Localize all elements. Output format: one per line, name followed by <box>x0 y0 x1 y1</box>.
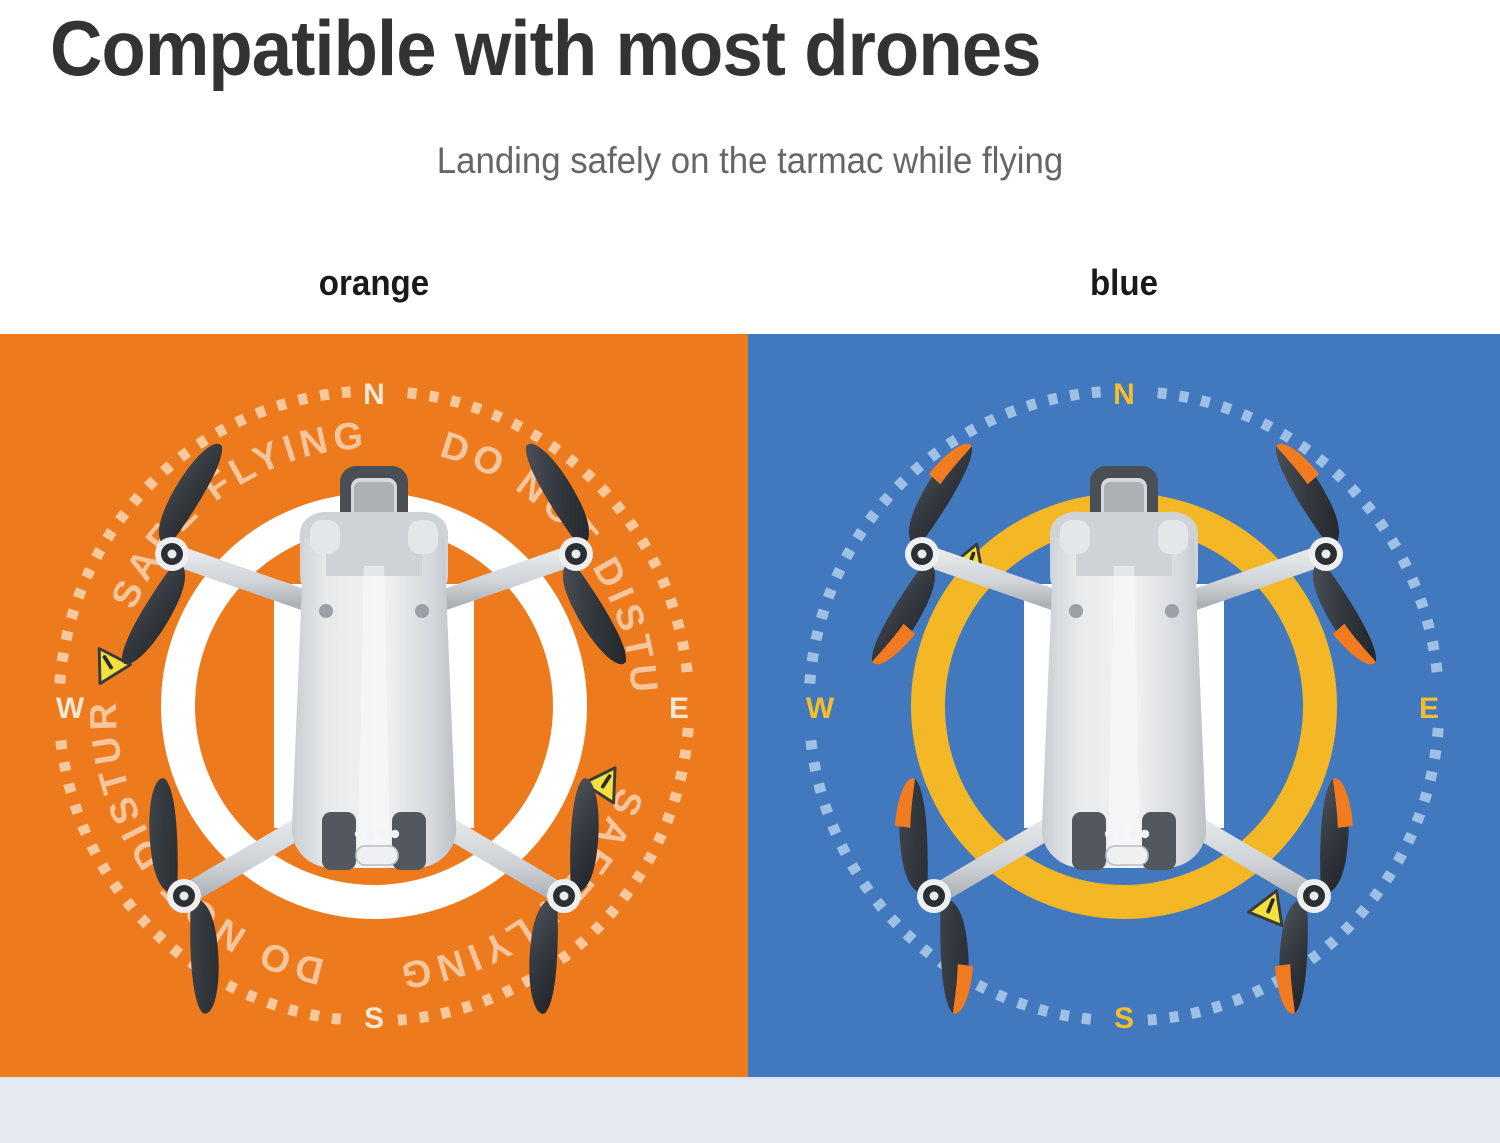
warning-triangle-icon-2 <box>1249 884 1294 925</box>
helipad-letter-h <box>1024 584 1224 828</box>
header-section: Compatible with most drones Landing safe… <box>0 0 1500 330</box>
landing-pad-orange: N E S W SAFE FLYING DO NOT DISTURB SAFE … <box>24 356 724 1056</box>
compass-letter-e: E <box>1419 692 1439 725</box>
compass-letter-s: S <box>364 1002 384 1035</box>
compass-letter-w: W <box>56 692 85 725</box>
landing-pad-blue: N E S W <box>774 356 1474 1056</box>
variant-label-blue: blue <box>778 262 1470 304</box>
variant-labels: orange blue <box>0 262 1500 320</box>
compass-letter-e: E <box>669 692 689 725</box>
page-title: Compatible with most drones <box>50 4 1371 94</box>
compass-letter-n: N <box>363 378 385 411</box>
helipad-letter-h <box>274 584 474 828</box>
variant-label-orange: orange <box>30 262 718 304</box>
footer-band <box>0 1077 1500 1143</box>
variant-panel-orange[interactable]: N E S W SAFE FLYING DO NOT DISTURB SAFE … <box>0 334 748 1077</box>
compass-letter-s: S <box>1114 1002 1134 1035</box>
page-subtitle: Landing safely on the tarmac while flyin… <box>45 140 1455 182</box>
warning-triangle-icon <box>84 639 130 684</box>
compass-letter-n: N <box>1113 378 1135 411</box>
compass-letter-w: W <box>806 692 835 725</box>
variant-panel-blue[interactable]: N E S W <box>748 334 1500 1077</box>
variant-comparison: N E S W SAFE FLYING DO NOT DISTURB SAFE … <box>0 334 1500 1077</box>
